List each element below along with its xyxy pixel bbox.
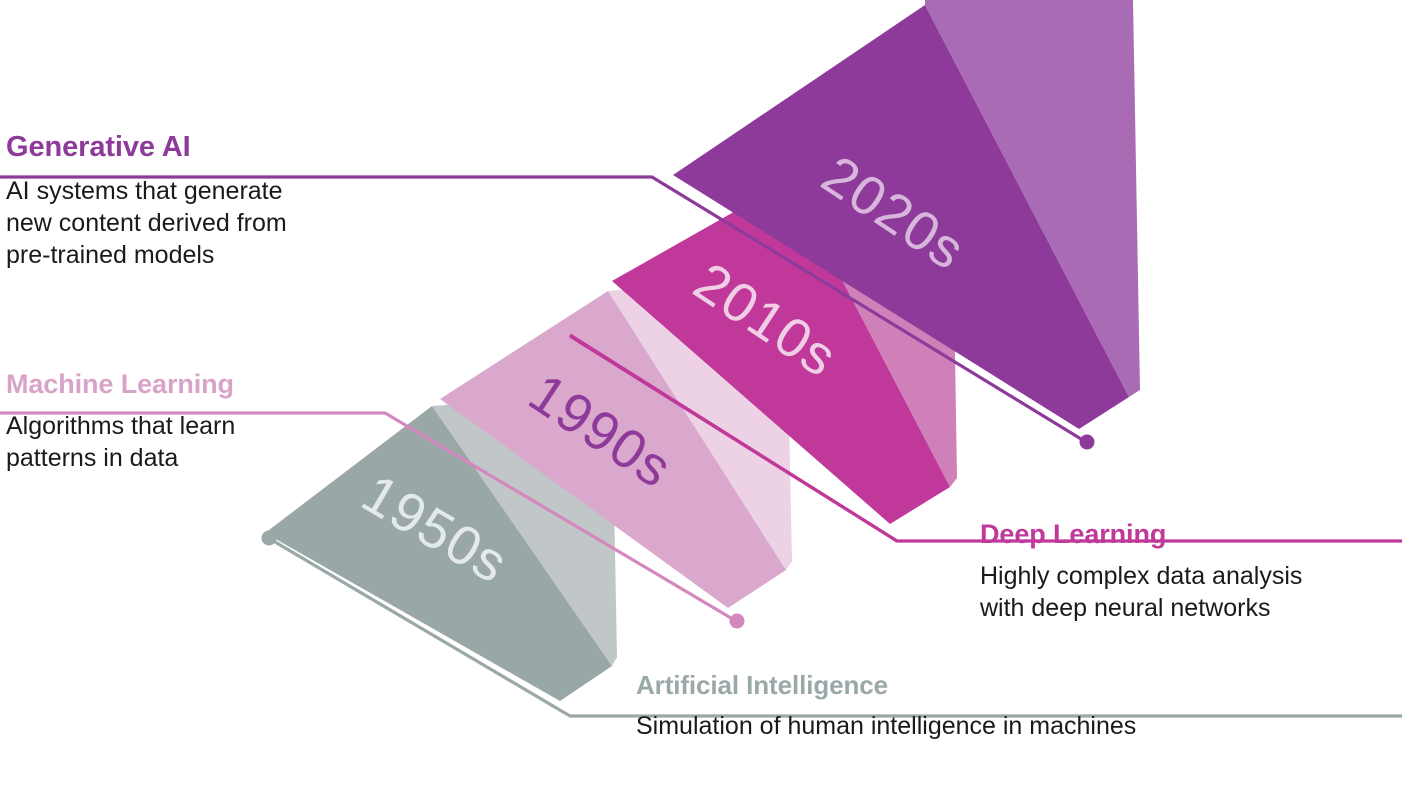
callout-deep-learning[interactable]: Deep Learning Highly complex data analys… (980, 520, 1302, 624)
callout-artificial-intelligence-title: Artificial Intelligence (636, 672, 1136, 699)
leader-dot-machine-learning (730, 614, 745, 629)
callout-generative-ai-title: Generative AI (6, 132, 287, 162)
callout-machine-learning[interactable]: Machine Learning Algorithms that learn p… (6, 370, 235, 474)
callout-generative-ai-description: AI systems that generate new content der… (6, 175, 287, 271)
callout-machine-learning-description: Algorithms that learn patterns in data (6, 410, 235, 474)
leader-dot-generative-ai (1080, 435, 1095, 450)
callout-deep-learning-description: Highly complex data analysis with deep n… (980, 560, 1302, 624)
callout-artificial-intelligence[interactable]: Artificial Intelligence Simulation of hu… (636, 672, 1136, 742)
callout-generative-ai[interactable]: Generative AI AI systems that generate n… (6, 132, 287, 271)
diagram-canvas: 1950s 1990s 2010s 2020s Gener (0, 0, 1402, 786)
callout-deep-learning-title: Deep Learning (980, 520, 1302, 548)
callout-machine-learning-title: Machine Learning (6, 370, 235, 398)
callout-artificial-intelligence-description: Simulation of human intelligence in mach… (636, 710, 1136, 742)
